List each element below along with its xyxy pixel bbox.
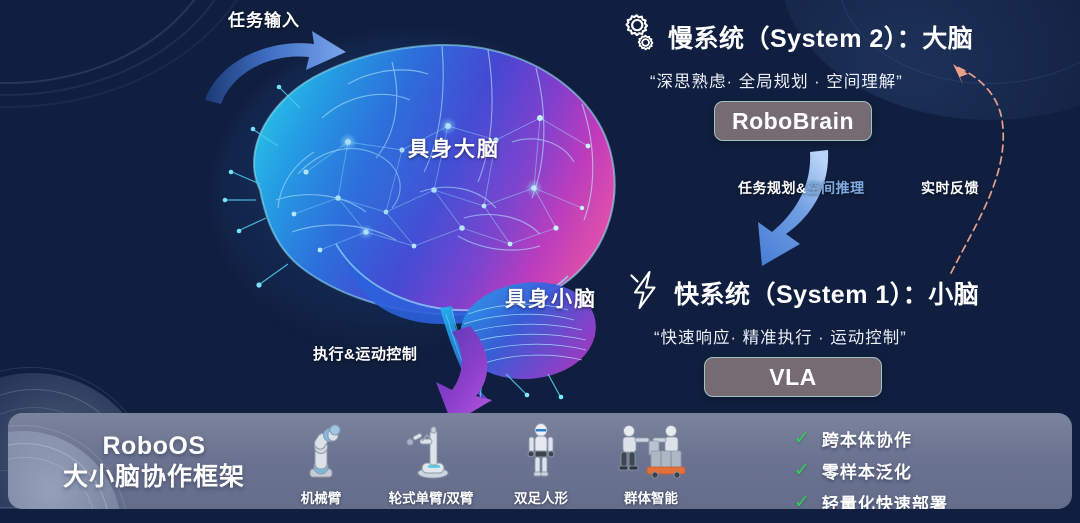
robot-item-wheeled[interactable]: 轮式单臂/双臂 xyxy=(376,419,486,507)
planning-label: 任务规划&空间推理 xyxy=(738,178,865,198)
robot-caption: 群体智能 xyxy=(624,487,678,507)
feedback-label: 实时反馈 xyxy=(921,178,979,198)
robot-caption: 双足人形 xyxy=(514,487,568,507)
system2-title: 慢系统（System 2）：大脑 xyxy=(668,19,973,55)
feature-text: 零样本泛化 xyxy=(822,458,912,483)
roboos-bottom-bar: RoboOS 大小脑协作框架 xyxy=(8,413,1072,509)
feature-item: ✓ 轻量化快速部署 xyxy=(794,490,948,509)
task-input-label: 任务输入 xyxy=(228,6,300,31)
lightning-icon xyxy=(626,268,664,317)
roboos-title-line2: 大小脑协作框架 xyxy=(36,462,272,493)
planning-arrow-icon xyxy=(758,150,828,266)
system1-header: 快系统（System 1）：小脑 xyxy=(626,268,979,317)
roboos-title-line1: RoboOS xyxy=(36,431,272,462)
robot-item-swarm[interactable]: 群体智能 xyxy=(596,419,706,507)
robot-caption: 机械臂 xyxy=(301,487,342,507)
swarm-robots-icon xyxy=(596,421,706,483)
robot-type-list: 机械臂 xyxy=(266,419,706,507)
system1-title: 快系统（System 1）：小脑 xyxy=(674,275,979,311)
system2-block: 慢系统（System 2）：大脑 “深思熟虑· 全局规划 · 空间理解” Rob… xyxy=(618,12,973,141)
vla-chip[interactable]: VLA xyxy=(704,357,882,397)
system2-header: 慢系统（System 2）：大脑 xyxy=(618,12,973,61)
feature-item: ✓ 零样本泛化 xyxy=(794,458,948,483)
footer-strip xyxy=(0,509,1080,523)
big-brain-label: 具身大脑 xyxy=(408,133,500,163)
execution-label: 执行&运动控制 xyxy=(313,343,417,364)
robot-arm-icon xyxy=(266,421,376,483)
roboos-title: RoboOS 大小脑协作框架 xyxy=(36,431,272,492)
robot-item-humanoid[interactable]: 双足人形 xyxy=(486,419,596,507)
humanoid-icon xyxy=(486,421,596,483)
gear-icon xyxy=(618,12,658,61)
robobrain-chip[interactable]: RoboBrain xyxy=(714,101,872,141)
robot-item-arm[interactable]: 机械臂 xyxy=(266,419,376,507)
system1-block: 快系统（System 1）：小脑 “快速响应· 精准执行 · 运动控制” VLA xyxy=(626,268,979,397)
feature-text: 跨本体协作 xyxy=(822,426,912,451)
cerebellum-label: 具身小脑 xyxy=(505,283,597,313)
feature-list: ✓ 跨本体协作 ✓ 零样本泛化 ✓ 轻量化快速部署 xyxy=(794,426,948,509)
planning-label-highlight: 空间推理 xyxy=(807,180,865,196)
system2-subtitle: “深思熟虑· 全局规划 · 空间理解” xyxy=(650,68,973,92)
system1-subtitle: “快速响应· 精准执行 · 运动控制” xyxy=(654,324,979,348)
check-icon: ✓ xyxy=(794,461,810,480)
wheeled-arm-icon xyxy=(376,421,486,483)
check-icon: ✓ xyxy=(794,493,810,509)
diagram-canvas: 任务输入 执行&运动控制 实时反馈 任务规划&空间推理 具身大脑 具身小脑 xyxy=(0,0,1080,523)
task-input-arrow-icon xyxy=(205,31,346,104)
execution-arrow-icon xyxy=(436,326,492,424)
robot-caption: 轮式单臂/双臂 xyxy=(389,487,474,507)
feature-item: ✓ 跨本体协作 xyxy=(794,426,948,451)
feature-text: 轻量化快速部署 xyxy=(822,490,948,509)
planning-label-prefix: 任务规划& xyxy=(738,180,807,196)
check-icon: ✓ xyxy=(794,429,810,448)
